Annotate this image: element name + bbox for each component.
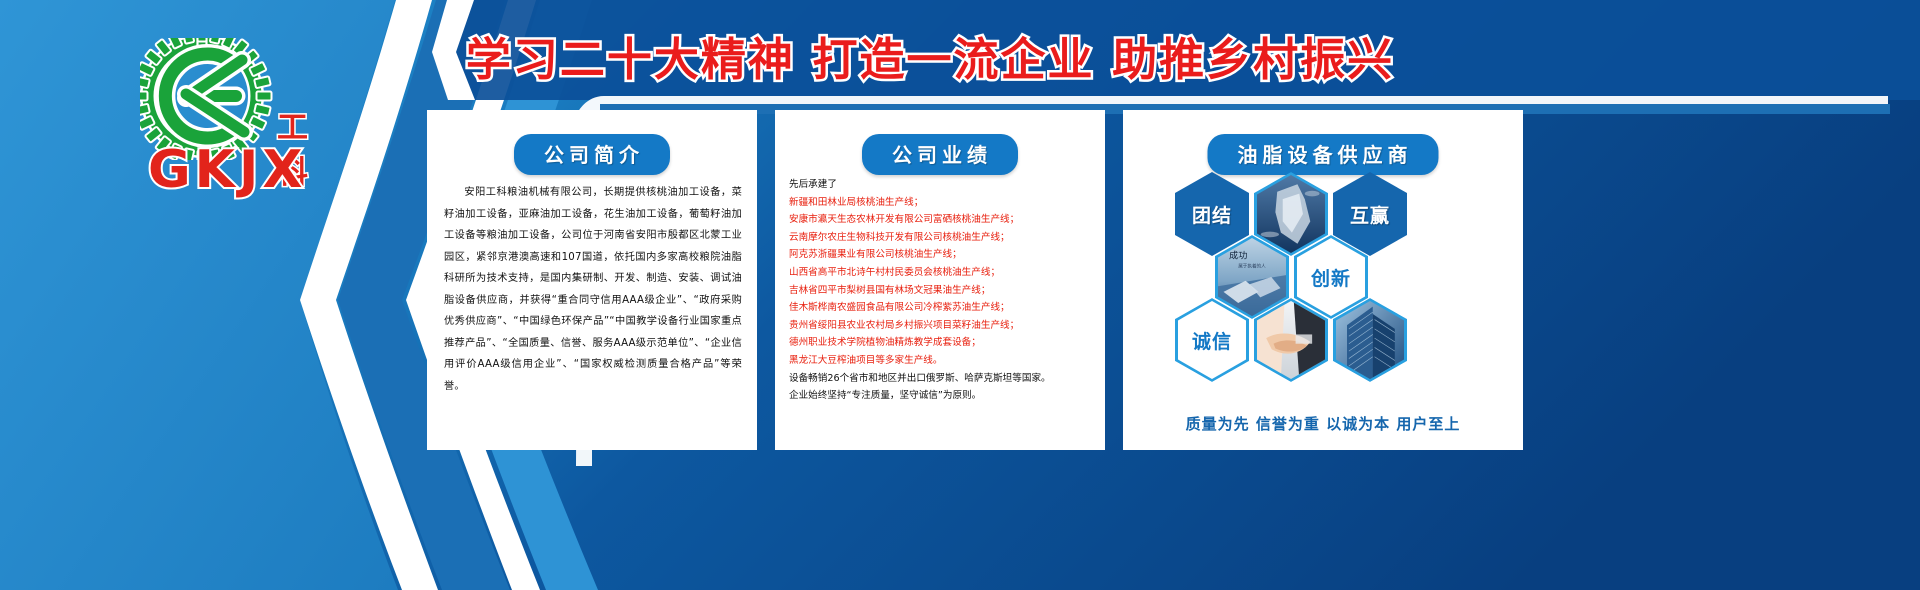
headline-text: 学习二十大精神 打造一流企业 助推乡村振兴 <box>466 23 1394 88</box>
performance-item: 安康市瀛天生态农林开发有限公司富硒核桃油生产线； <box>789 211 1093 229</box>
brand-logo: 工科 GKJX <box>122 38 332 208</box>
panel-supplier: 油脂设备供应商 团结 互赢 成功 属于执着的人 创新诚信 <box>1123 110 1523 450</box>
panel-title-company-profile: 公司简介 <box>514 134 670 175</box>
performance-footer-line: 企业始终坚持“专注质量，坚守诚信”为原则。 <box>789 387 1093 405</box>
company-profile-body: 安阳工科粮油机械有限公司，长期提供核桃油加工设备，菜籽油加工设备，亚麻油加工设备… <box>444 182 742 397</box>
performance-item: 新疆和田林业局核桃油生产线； <box>789 194 1093 212</box>
panel-company-profile: 公司简介 安阳工科粮油机械有限公司，长期提供核桃油加工设备，菜籽油加工设备，亚麻… <box>427 110 757 450</box>
panel-company-performance: 公司业绩 先后承建了新疆和田林业局核桃油生产线；安康市瀛天生态农林开发有限公司富… <box>775 110 1105 450</box>
supplier-slogan: 质量为先 信誉为重 以诚为本 用户至上 <box>1123 413 1523 434</box>
performance-lead: 先后承建了 <box>789 176 1093 194</box>
performance-item: 佳木斯桦南农盛园食品有限公司冷榨紫苏油生产线； <box>789 299 1093 317</box>
performance-item: 吉林省四平市梨树县国有林场文冠果油生产线； <box>789 282 1093 300</box>
performance-item: 阿克苏浙疆果业有限公司核桃油生产线； <box>789 246 1093 264</box>
hex-label: 诚信 <box>1192 327 1232 354</box>
hex-label: 团结 <box>1192 201 1232 228</box>
panel-title-company-performance: 公司业绩 <box>862 134 1018 175</box>
poster-canvas: 工科 GKJX 学习二十大精神 打造一流企业 助推乡村振兴 公司简介 安阳工科粮… <box>0 0 1920 590</box>
performance-item: 贵州省绥阳县农业农村局乡村振兴项目菜籽油生产线； <box>789 317 1093 335</box>
logo-latin-text: GKJX <box>148 140 306 200</box>
panel-group: 公司简介 安阳工科粮油机械有限公司，长期提供核桃油加工设备，菜籽油加工设备，亚麻… <box>427 110 1887 450</box>
svg-text:成功: 成功 <box>1229 249 1247 261</box>
performance-item: 云南摩尔农庄生物科技开发有限公司核桃油生产线； <box>789 229 1093 247</box>
panel-title-supplier: 油脂设备供应商 <box>1208 134 1439 175</box>
hex-label: 互赢 <box>1350 201 1390 228</box>
hex-label: 创新 <box>1311 264 1351 291</box>
performance-footer-line: 设备畅销26个省市和地区并出口俄罗斯、哈萨克斯坦等国家。 <box>789 370 1093 388</box>
hexagon-grid: 团结 互赢 成功 属于执着的人 创新诚信 <box>1123 172 1523 387</box>
performance-item: 德州职业技术学院植物油精炼教学成套设备； <box>789 334 1093 352</box>
performance-item: 山西省高平市北诗午村村民委员会核桃油生产线； <box>789 264 1093 282</box>
poster-headline: 学习二十大精神 打造一流企业 助推乡村振兴 <box>430 23 1430 87</box>
performance-list: 先后承建了新疆和田林业局核桃油生产线；安康市瀛天生态农林开发有限公司富硒核桃油生… <box>789 176 1093 405</box>
performance-item: 黑龙江大豆榨油项目等多家生产线。 <box>789 352 1093 370</box>
